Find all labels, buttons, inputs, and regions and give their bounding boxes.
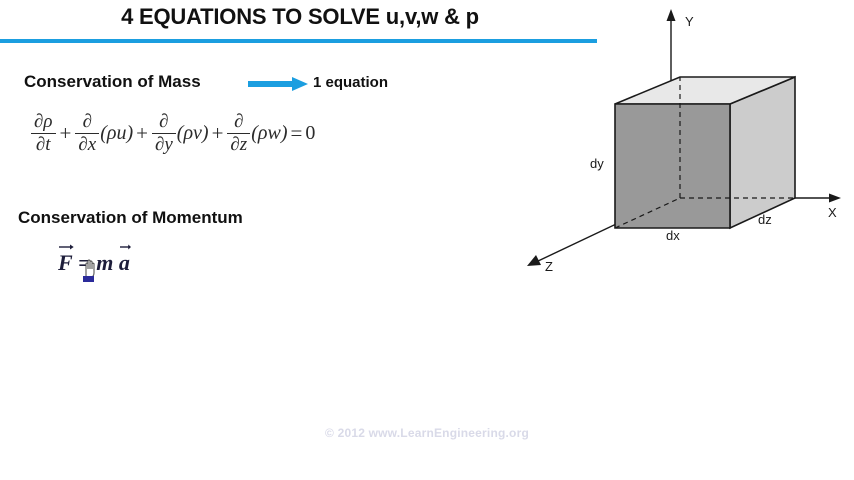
mass-symbol: m (96, 250, 113, 275)
x-axis-arrowhead (829, 194, 841, 203)
term3-numerator: ∂ (156, 112, 171, 132)
term2-fraction: ∂ ∂x (75, 112, 99, 155)
plus-operator-2: + (136, 121, 148, 146)
continuity-equation: ∂ρ ∂t + ∂ ∂x (ρu) + ∂ ∂y (ρv) + ∂ ∂z (ρw… (30, 112, 315, 155)
acceleration-vector: a (119, 248, 130, 276)
term2-denominator: ∂x (75, 135, 99, 155)
y-axis-arrowhead (667, 9, 676, 21)
cube-faces (615, 77, 795, 228)
y-axis-label: Y (685, 14, 694, 29)
control-volume-diagram: Y X Z dy dx dz (500, 0, 854, 290)
newton-second-law-equation: F = m a (58, 248, 130, 276)
term4-fraction: ∂ ∂z (227, 112, 250, 155)
momentum-equals: = (78, 250, 91, 275)
term2-numerator: ∂ (80, 112, 95, 132)
vector-arrow-icon (59, 243, 74, 250)
term1-fraction: ∂ρ ∂t (31, 112, 56, 155)
term2-group: (ρu) (100, 122, 133, 145)
term3-group: (ρv) (177, 122, 209, 145)
conservation-of-momentum-heading: Conservation of Momentum (18, 208, 243, 228)
term4-numerator: ∂ (231, 112, 246, 132)
plus-operator-3: + (212, 121, 224, 146)
slide-canvas: 4 EQUATIONS TO SOLVE u,v,w & p Conservat… (0, 0, 854, 480)
vector-arrow-icon (120, 243, 131, 250)
acceleration-symbol: a (119, 250, 130, 275)
plus-operator-1: + (60, 121, 72, 146)
equation-rhs: 0 (305, 122, 315, 145)
term3-fraction: ∂ ∂y (152, 112, 176, 155)
dz-label: dz (758, 212, 772, 227)
force-symbol: F (58, 250, 73, 275)
term3-denominator: ∂y (152, 135, 176, 155)
dy-label: dy (590, 156, 604, 171)
term4-denominator: ∂z (227, 135, 250, 155)
x-axis-label: X (828, 205, 837, 220)
cube-svg (500, 0, 854, 290)
z-axis-label: Z (545, 259, 553, 274)
term4-group: (ρw) (251, 122, 287, 145)
arrow-head (292, 77, 308, 91)
mass-equation-count-label: 1 equation (313, 74, 388, 91)
dx-label: dx (666, 228, 680, 243)
cursor-selection-chip (83, 276, 94, 282)
right-arrow-icon (248, 75, 310, 93)
conservation-of-mass-heading: Conservation of Mass (24, 72, 201, 92)
equals-operator: = (290, 121, 302, 146)
term1-denominator: ∂t (33, 135, 54, 155)
cube-front-face (615, 104, 730, 228)
force-vector: F (58, 248, 73, 276)
term1-numerator: ∂ρ (31, 112, 56, 132)
copyright-notice: © 2012 www.LearnEngineering.org (0, 426, 854, 440)
arrow-shaft (248, 81, 294, 87)
